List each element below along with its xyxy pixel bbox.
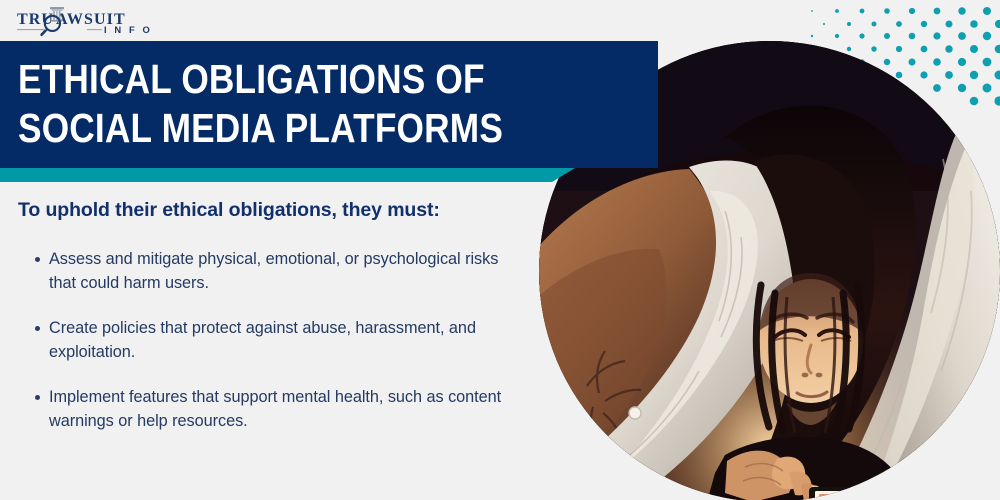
teal-accent-bar <box>0 168 600 182</box>
list-item: Implement features that support mental h… <box>18 386 523 433</box>
bullet-dot-icon <box>35 395 40 400</box>
page-title: ETHICAL OBLIGATIONS OF SOCIAL MEDIA PLAT… <box>18 55 503 153</box>
logo-tagline: I N F O <box>104 24 150 35</box>
content-column: To uphold their ethical obligations, the… <box>18 198 538 433</box>
subheading: To uphold their ethical obligations, the… <box>18 198 538 222</box>
page-title-line1: ETHICAL OBLIGATIONS OF <box>18 55 503 104</box>
bullet-dot-icon <box>35 326 40 331</box>
trulawsuit-info-logo[interactable]: TRU AWSUIT I N F O <box>16 6 150 38</box>
obligations-list: Assess and mitigate physical, emotional,… <box>18 248 538 433</box>
infographic-canvas: TRU AWSUIT I N F O ETHICAL OBLIGAT <box>0 0 1000 500</box>
logo-word-tru: TRU <box>17 11 54 28</box>
page-title-line2: SOCIAL MEDIA PLATFORMS <box>18 104 503 153</box>
list-item: Assess and mitigate physical, emotional,… <box>18 248 523 295</box>
list-item-text: Implement features that support mental h… <box>49 388 501 430</box>
title-banner: ETHICAL OBLIGATIONS OF SOCIAL MEDIA PLAT… <box>0 41 658 168</box>
list-item: Create policies that protect against abu… <box>18 317 523 364</box>
bullet-dot-icon <box>35 257 40 262</box>
list-item-text: Assess and mitigate physical, emotional,… <box>49 250 498 292</box>
list-item-text: Create policies that protect against abu… <box>49 319 476 361</box>
